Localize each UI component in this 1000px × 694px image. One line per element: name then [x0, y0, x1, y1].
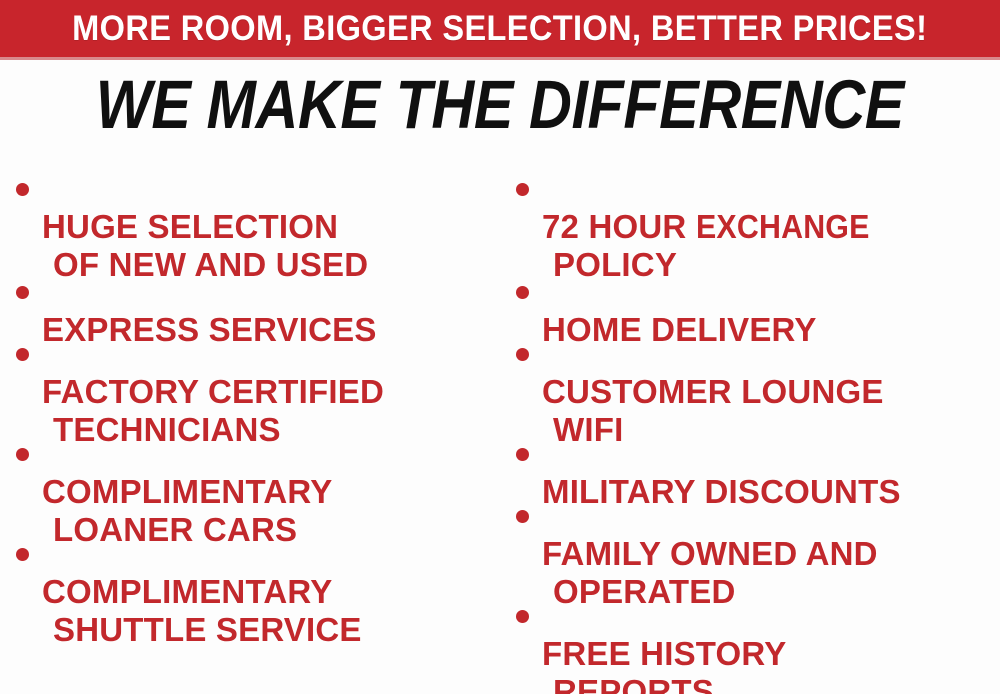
- bullet-dot-icon: [516, 510, 529, 523]
- bullet-dot-icon: [16, 286, 29, 299]
- benefits-column-left: HUGE SELECTION OF NEW AND USED EXPRESS S…: [16, 160, 500, 694]
- list-item-label: COMPLIMENTARY SHUTTLE SERVICE: [42, 535, 500, 687]
- bullet-dot-icon: [16, 348, 29, 361]
- list-item-line2: SHUTTLE SERVICE: [42, 611, 500, 649]
- list-item-line1: COMPLIMENTARY: [42, 473, 332, 510]
- list-item-line1: 72 HOUR: [542, 208, 696, 245]
- advertisement-banner: MORE ROOM, BIGGER SELECTION, BETTER PRIC…: [0, 0, 1000, 694]
- bullet-dot-icon: [16, 448, 29, 461]
- bullet-dot-icon: [16, 183, 29, 196]
- list-item-line2: REPORTS: [542, 673, 1000, 694]
- bullet-dot-icon: [516, 610, 529, 623]
- list-item: FREE HISTORY REPORTS: [516, 597, 1000, 694]
- headline-container: WE MAKE THE DIFFERENCE: [0, 66, 1000, 144]
- bullet-dot-icon: [516, 348, 529, 361]
- benefits-column-right: 72 HOUR EXCHANGE POLICY HOME DELIVERY CU…: [516, 160, 1000, 694]
- top-promo-strip: MORE ROOM, BIGGER SELECTION, BETTER PRIC…: [0, 0, 1000, 57]
- list-item-line1: HUGE SELECTION: [42, 208, 338, 245]
- list-item-line1: FACTORY CERTIFIED: [42, 373, 384, 410]
- top-promo-text: MORE ROOM, BIGGER SELECTION, BETTER PRIC…: [72, 11, 927, 46]
- bullet-dot-icon: [516, 183, 529, 196]
- list-item-label: FREE HISTORY REPORTS: [542, 597, 1000, 694]
- page-title: WE MAKE THE DIFFERENCE: [96, 70, 904, 140]
- benefits-columns: HUGE SELECTION OF NEW AND USED EXPRESS S…: [0, 160, 1000, 694]
- bullet-dot-icon: [16, 548, 29, 561]
- list-item-line1: FREE HISTORY: [542, 635, 786, 672]
- list-item-line1: CUSTOMER LOUNGE: [542, 373, 884, 410]
- list-item: COMPLIMENTARY SHUTTLE SERVICE: [16, 535, 500, 687]
- bullet-dot-icon: [516, 448, 529, 461]
- bullet-dot-icon: [516, 286, 529, 299]
- list-item-line1-emphasis: EXCHANGE: [696, 208, 870, 246]
- list-item-line1: COMPLIMENTARY: [42, 573, 332, 610]
- list-item-line1: FAMILY OWNED AND: [542, 535, 878, 572]
- strip-underline-divider: [0, 57, 1000, 60]
